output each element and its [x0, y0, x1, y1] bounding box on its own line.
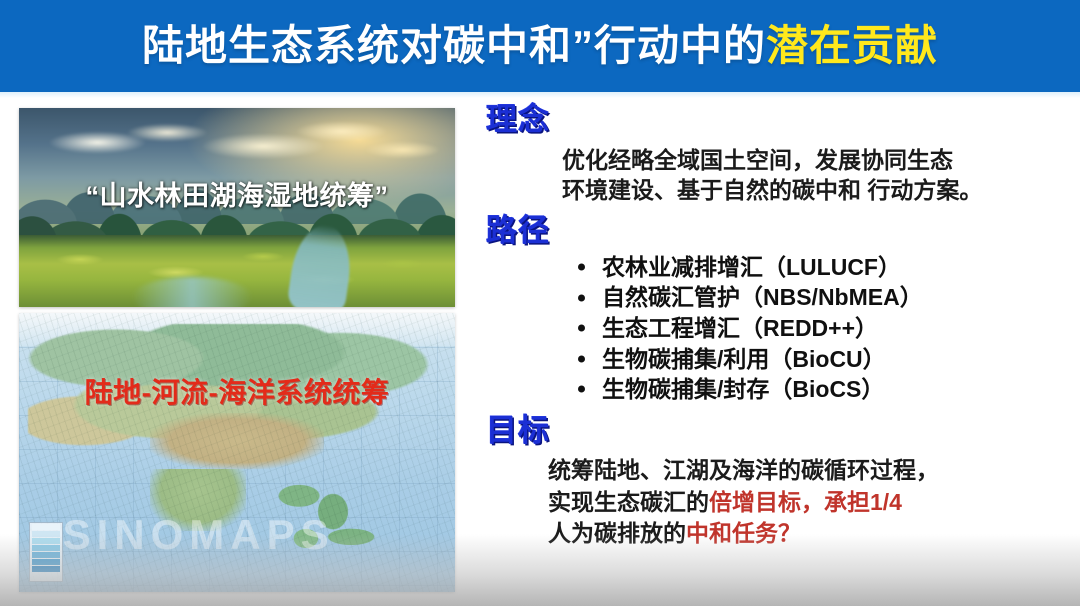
map-legend-swatch — [32, 552, 60, 558]
goal-line-emphasis: 中和任务？ — [686, 520, 801, 546]
map-legend-swatch — [32, 538, 60, 544]
map-legend — [29, 522, 63, 582]
media-column: “山水林田湖海湿地统筹” SINOMAPS 陆地-河流-海洋系统统筹 — [19, 108, 455, 592]
title-bar-underglow — [0, 92, 1080, 98]
map-legend-swatch — [32, 531, 60, 537]
list-item: 生物碳捕集/利用（BioCU） — [576, 344, 1072, 375]
page-title-main: 陆地生态系统对碳中和”行动中的 — [142, 22, 766, 69]
goal-line-plain: 实现生态碳汇的 — [548, 489, 709, 515]
content-column: 理念 优化经略全域国土空间，发展协同生态 环境建设、基于自然的碳中和 行动方案。… — [486, 104, 1072, 549]
slide-root: 陆地生态系统对碳中和”行动中的潜在贡献 “山水林田湖海湿地统筹” SINOMAP… — [0, 0, 1080, 606]
goal-line: 人为碳排放的中和任务？ — [548, 518, 1072, 549]
section-heading-goal: 目标 — [486, 415, 1072, 448]
goal-line: 统筹陆地、江湖及海洋的碳循环过程， — [548, 455, 1072, 486]
goal-line-emphasis: 倍增目标，承担1/4 — [709, 489, 902, 515]
goal-line: 实现生态碳汇的倍增目标，承担1/4 — [548, 487, 1072, 518]
section-heading-concept: 理念 — [486, 104, 1072, 137]
map-watermark: SINOMAPS — [63, 511, 335, 559]
list-item: 生态工程增汇（REDD++） — [576, 313, 1072, 344]
map-caption: 陆地-河流-海洋系统统筹 — [19, 371, 455, 411]
concept-line: 优化经略全域国土空间，发展协同生态 — [562, 145, 1072, 175]
map-legend-swatch — [32, 545, 60, 551]
section-heading-pathways: 路径 — [486, 215, 1072, 248]
page-title: 陆地生态系统对碳中和”行动中的潜在贡献 — [142, 25, 938, 67]
slide-title-bar: 陆地生态系统对碳中和”行动中的潜在贡献 — [0, 0, 1080, 92]
map-legend-swatch — [32, 559, 60, 565]
section-body-goal: 统筹陆地、江湖及海洋的碳循环过程， 实现生态碳汇的倍增目标，承担1/4 人为碳排… — [486, 455, 1072, 549]
list-item: 自然碳汇管护（NBS/NbMEA） — [576, 282, 1072, 313]
landscape-photo: “山水林田湖海湿地统筹” — [19, 108, 455, 307]
goal-line-plain: 人为碳排放的 — [548, 520, 686, 546]
list-item: 农林业减排增汇（LULUCF） — [576, 252, 1072, 283]
concept-line: 环境建设、基于自然的碳中和 行动方案。 — [562, 175, 1072, 205]
landscape-photo-caption: “山水林田湖海湿地统筹” — [19, 174, 455, 213]
section-body-concept: 优化经略全域国土空间，发展协同生态 环境建设、基于自然的碳中和 行动方案。 — [486, 145, 1072, 206]
list-item: 生物碳捕集/封存（BioCS） — [576, 374, 1072, 405]
map-legend-swatch — [32, 566, 60, 572]
pathways-bullet-list: 农林业减排增汇（LULUCF） 自然碳汇管护（NBS/NbMEA） 生态工程增汇… — [486, 252, 1072, 405]
asia-relief-map: SINOMAPS 陆地-河流-海洋系统统筹 — [19, 313, 455, 592]
page-title-accent: 潜在贡献 — [766, 22, 938, 69]
map-legend-swatch — [32, 524, 60, 530]
goal-line-plain: 统筹陆地、江湖及海洋的碳循环过程， — [548, 457, 939, 483]
